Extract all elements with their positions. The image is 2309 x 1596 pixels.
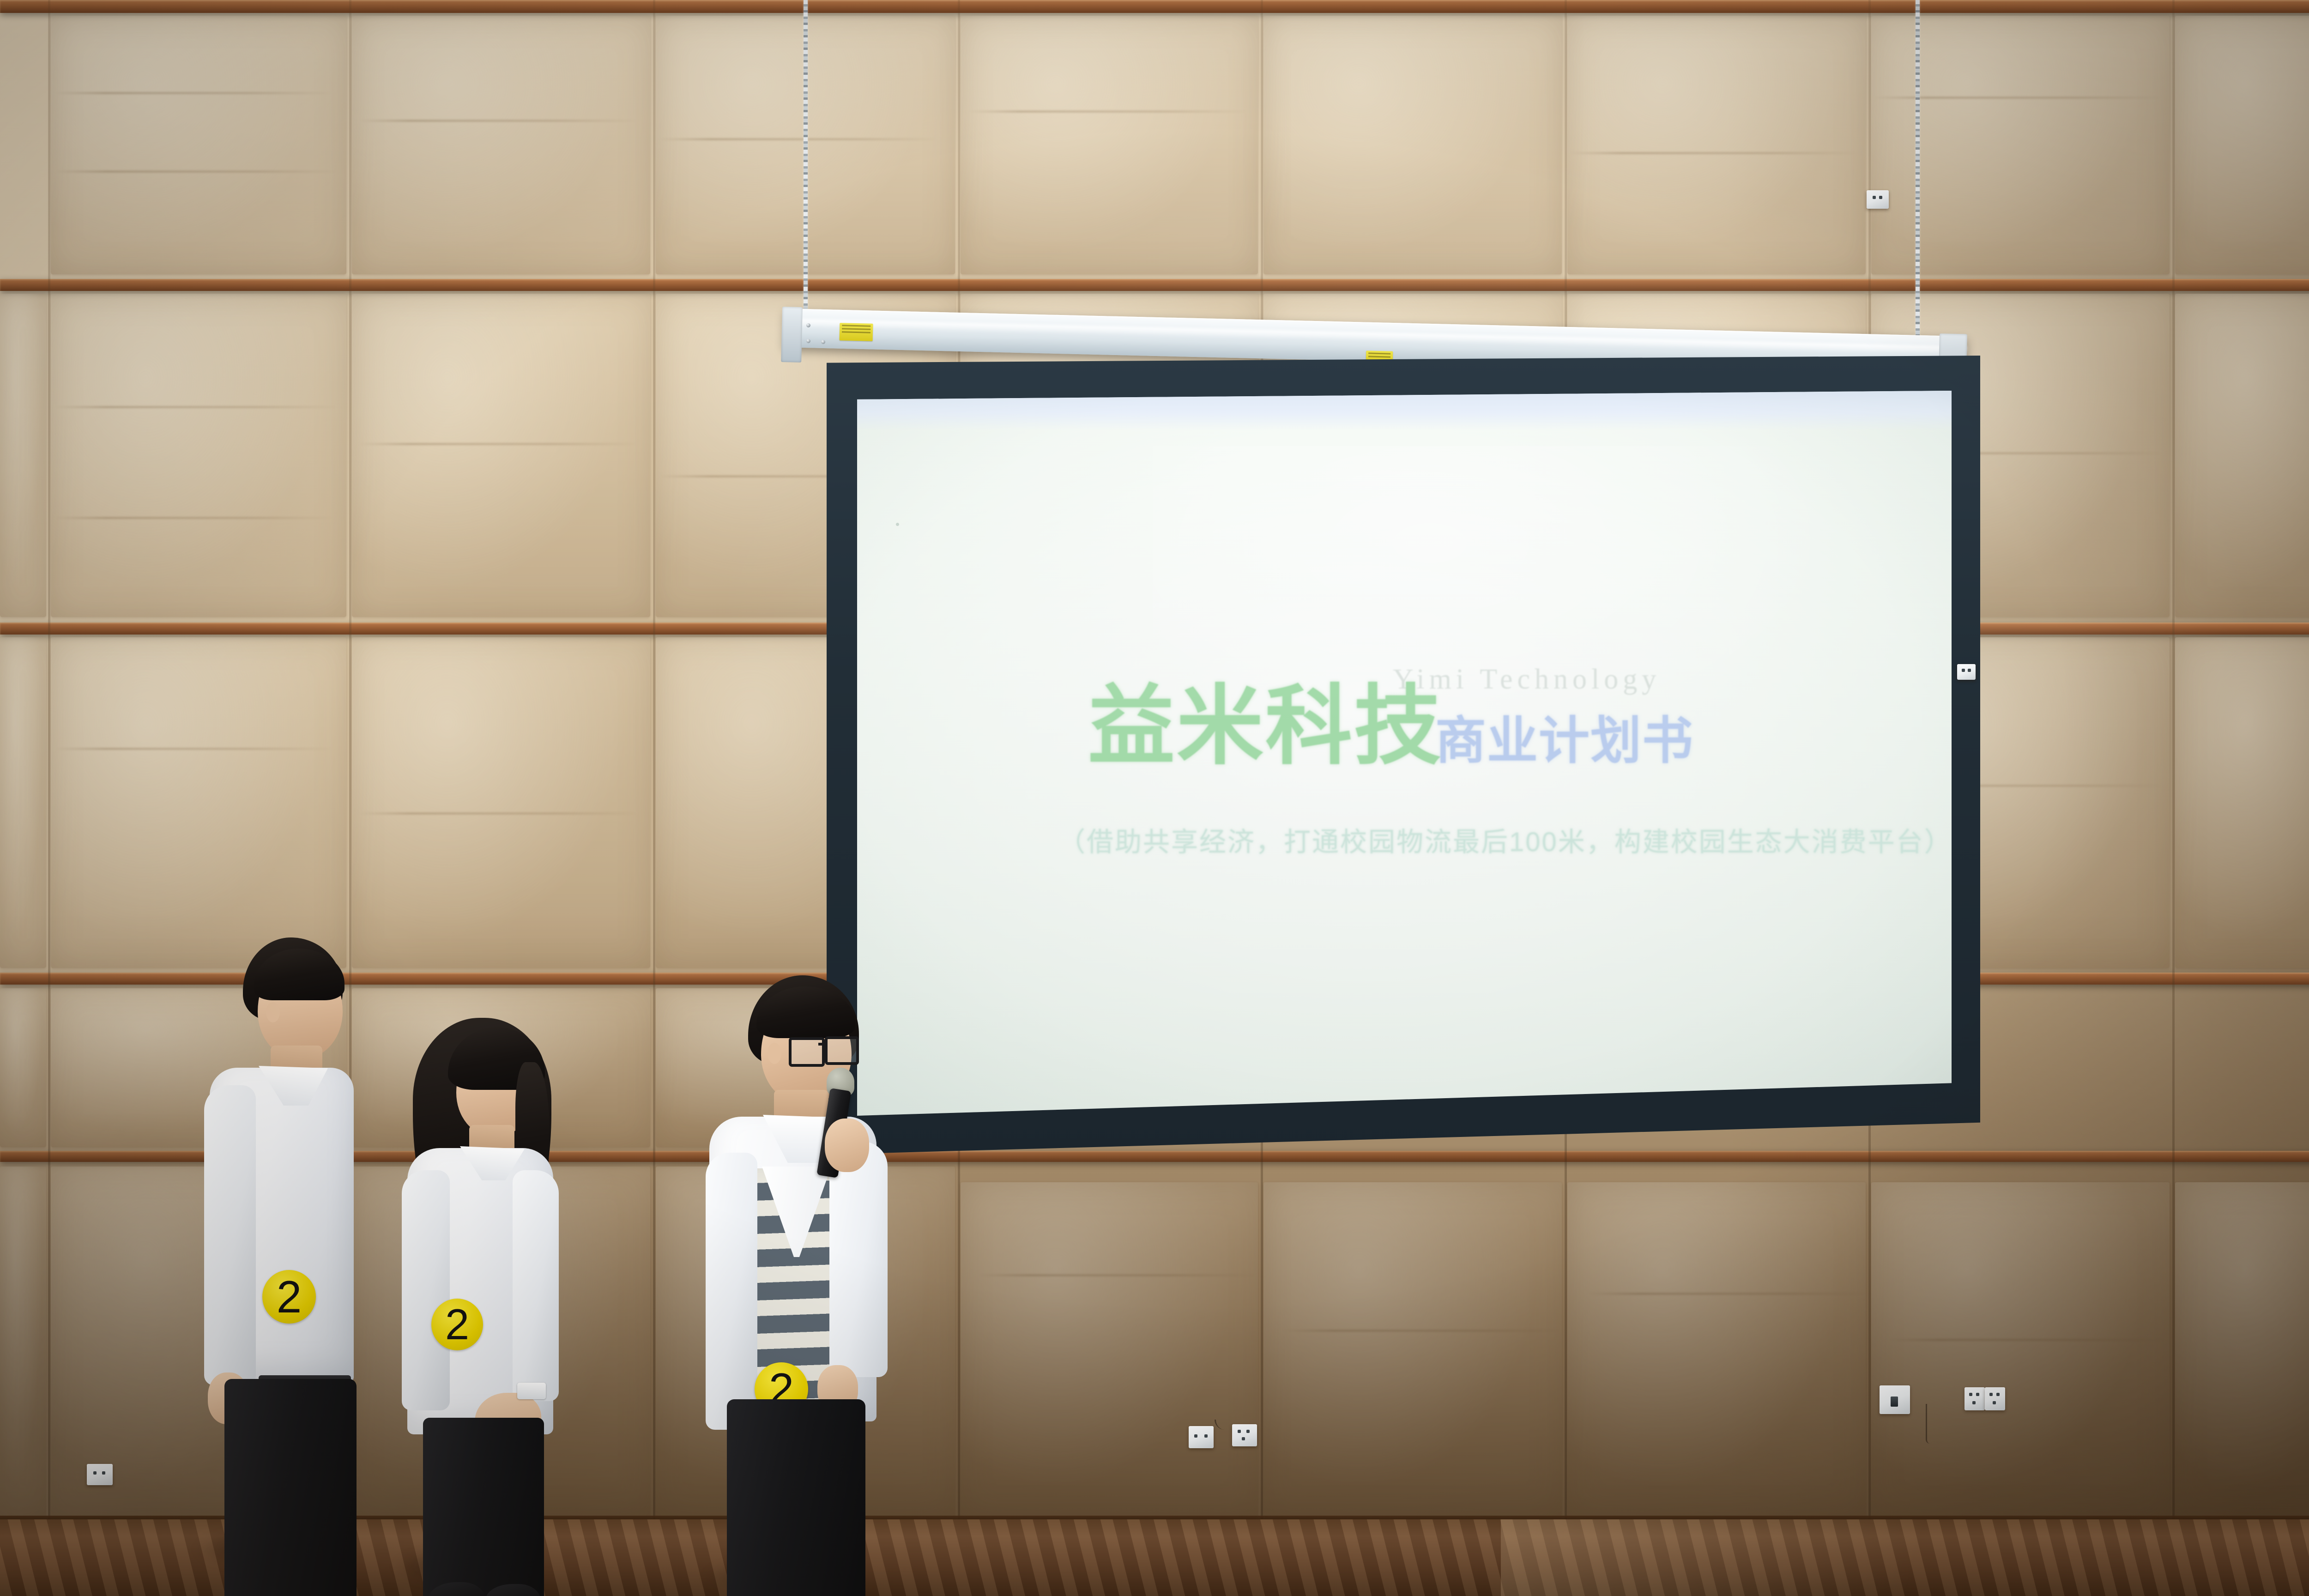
wall-seam bbox=[653, 0, 655, 1519]
slide-stray-dot bbox=[896, 523, 899, 526]
person-middle-arm-right bbox=[513, 1170, 559, 1401]
wall-panel bbox=[1871, 1182, 2170, 1517]
person-left-arm bbox=[204, 1085, 256, 1385]
wall-panel bbox=[1567, 16, 1866, 274]
wall-panel bbox=[1263, 1182, 1562, 1517]
wall-panel bbox=[0, 1167, 46, 1517]
plate-upper-right bbox=[1867, 190, 1889, 209]
slide-content: Yimi Technology 益米科技 商业计划书 （借助共享经济，打通校园物… bbox=[857, 391, 1952, 1116]
panel-crease bbox=[979, 1275, 1256, 1276]
slide-title-main: 益米科技 bbox=[1088, 683, 1443, 769]
panel-crease bbox=[360, 813, 637, 814]
person-middle: 2 bbox=[379, 1011, 573, 1596]
person-left-badge[interactable]: 2 bbox=[262, 1270, 316, 1324]
person-speaker: 2 bbox=[683, 970, 905, 1596]
wall-panel bbox=[961, 1182, 1258, 1517]
projection-screen-surface: Yimi Technology 益米科技 商业计划书 （借助共享经济，打通校园物… bbox=[857, 391, 1952, 1116]
panel-crease bbox=[1589, 1293, 1866, 1294]
wall-panel bbox=[0, 294, 46, 617]
wall-trim-rail-1 bbox=[0, 279, 2309, 291]
panel-crease bbox=[55, 517, 332, 519]
panel-crease bbox=[360, 443, 637, 445]
screen-suspension-chain-left bbox=[804, 0, 808, 314]
slide-title-sub: 商业计划书 bbox=[1435, 716, 1694, 767]
panel-crease bbox=[1570, 152, 1856, 154]
casing-end-cap-left bbox=[781, 307, 803, 363]
photo-scene: Yimi Technology 益米科技 商业计划书 （借助共享经济，打通校园物… bbox=[0, 0, 2309, 1596]
panel-crease bbox=[970, 111, 1247, 112]
person-left-trousers bbox=[224, 1379, 357, 1596]
glasses-bridge-icon bbox=[818, 1043, 828, 1046]
wall-panel bbox=[1567, 1182, 1866, 1517]
person-speaker-ear bbox=[768, 1043, 781, 1064]
outlet-center-pair-b bbox=[1232, 1424, 1257, 1446]
panel-crease bbox=[1284, 1330, 1561, 1331]
panel-crease bbox=[360, 120, 637, 121]
wall-panel bbox=[51, 637, 346, 968]
person-speaker-arm-right bbox=[829, 1142, 888, 1377]
wall-panel bbox=[352, 294, 650, 617]
outlet-left-low bbox=[87, 1464, 113, 1485]
casing-warning-sticker bbox=[840, 323, 873, 341]
person-middle-watch bbox=[517, 1383, 546, 1399]
wall-panel bbox=[2175, 637, 2309, 968]
slide-title-row: 益米科技 商业计划书 bbox=[1088, 683, 1694, 769]
panel-crease bbox=[55, 406, 337, 408]
wall-panel bbox=[2175, 16, 2309, 274]
panel-crease bbox=[55, 92, 332, 94]
person-left: 2 bbox=[185, 933, 379, 1596]
wall-panel bbox=[352, 637, 650, 968]
glasses-right-lens-icon bbox=[825, 1036, 859, 1065]
wall-panel bbox=[1263, 16, 1562, 274]
panel-crease bbox=[1889, 1339, 2166, 1341]
wall-seam bbox=[48, 0, 50, 1519]
wall-panel bbox=[2175, 1182, 2309, 1517]
casing-screw bbox=[821, 340, 825, 344]
casing-screw bbox=[806, 339, 810, 343]
wall-panel bbox=[2175, 294, 2309, 617]
floor-reflection bbox=[1501, 1519, 2194, 1596]
outlet-right-pair-b bbox=[1985, 1387, 2005, 1410]
panel-crease bbox=[660, 139, 937, 140]
wall-panel bbox=[51, 16, 346, 274]
wall-seam bbox=[2172, 0, 2175, 1519]
outlet-right-single bbox=[1880, 1385, 1910, 1414]
slide-tagline: （借助共享经济，打通校园物流最后100米，构建校园生态大消费平台） bbox=[1058, 820, 1952, 859]
wall-panel bbox=[352, 16, 650, 274]
panel-crease bbox=[55, 748, 332, 750]
casing-screw bbox=[806, 323, 810, 327]
panel-crease bbox=[55, 171, 337, 172]
person-middle-badge[interactable]: 2 bbox=[431, 1299, 483, 1350]
person-speaker-arm-left bbox=[706, 1153, 757, 1430]
outlet-right-cable bbox=[1926, 1404, 1930, 1444]
person-speaker-trousers bbox=[727, 1399, 865, 1596]
glasses-left-lens-icon bbox=[789, 1037, 825, 1067]
outlet-right-pair-a bbox=[1964, 1387, 1985, 1410]
person-speaker-hand-mic bbox=[825, 1118, 869, 1172]
wall-trim-rail-top bbox=[0, 0, 2309, 13]
wall-panel bbox=[961, 16, 1258, 274]
person-middle-arm-left bbox=[402, 1170, 450, 1410]
outlet-center-pair-a bbox=[1189, 1426, 1214, 1448]
plate-screen-right bbox=[1957, 664, 1976, 680]
person-left-ear bbox=[266, 1002, 280, 1022]
wall-panel bbox=[0, 637, 46, 968]
wall-panel bbox=[51, 294, 346, 617]
wall-panel bbox=[0, 988, 46, 1147]
person-middle-trousers bbox=[423, 1418, 544, 1596]
